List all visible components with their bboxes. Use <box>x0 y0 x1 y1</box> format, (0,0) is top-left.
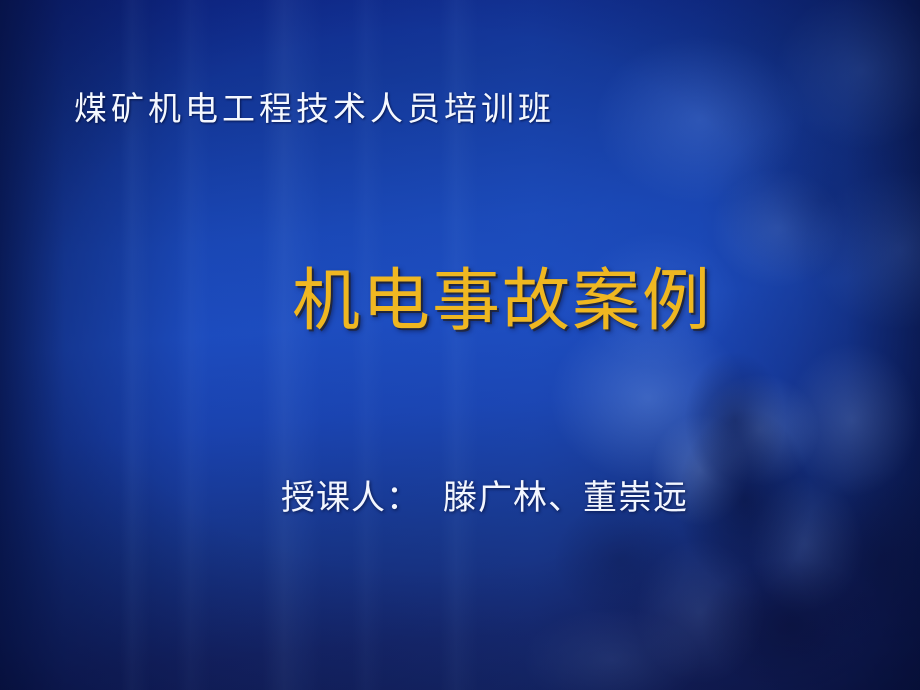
presentation-slide: 煤矿机电工程技术人员培训班 机电事故案例 授课人：滕广林、董崇远 <box>0 0 920 690</box>
presenter-label: 授课人： <box>281 478 421 518</box>
slide-heading: 煤矿机电工程技术人员培训班 <box>74 92 555 125</box>
presenter-names: 滕广林、董崇远 <box>443 478 688 518</box>
slide-presenter: 授课人：滕广林、董崇远 <box>281 481 688 515</box>
slide-title: 机电事故案例 <box>292 268 712 336</box>
